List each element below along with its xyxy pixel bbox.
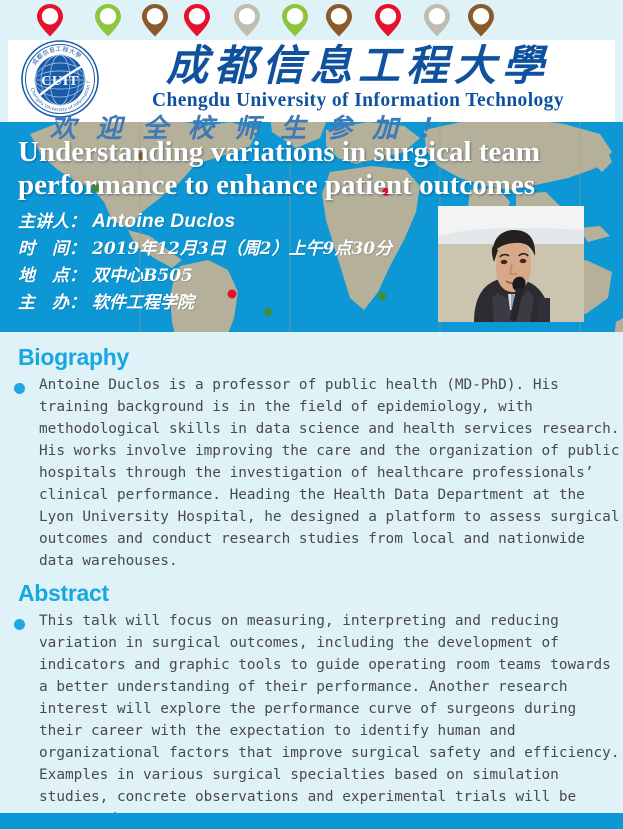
map-pin-3	[137, 2, 173, 38]
cuit-logo-icon: CUIT 成都信息工程大學 Chengdu University of Info…	[20, 39, 100, 119]
detail-location: 地 点：双中心B505	[18, 263, 392, 290]
map-pin-1	[32, 2, 68, 38]
detail-time: 时 间：2019年12月3日（周2）上午9点30分	[18, 236, 392, 263]
abstract-heading: Abstract	[18, 580, 109, 607]
svg-text:CUIT: CUIT	[41, 74, 78, 89]
poster-title: Understanding variations in surgical tea…	[18, 136, 604, 202]
map-pin-6	[277, 2, 313, 38]
welcome-line: 欢迎全校师生参加！	[50, 108, 590, 145]
detail-location-value: 双中心B505	[92, 266, 193, 286]
poster-content: Biography Antoine Duclos is a professor …	[0, 332, 623, 813]
speaker-photo	[438, 206, 584, 322]
detail-location-label: 地 点：	[18, 263, 92, 290]
biography-body: Antoine Duclos is a professor of public …	[14, 374, 623, 572]
detail-speaker-value: Antoine Duclos	[92, 211, 236, 232]
abstract-body: This talk will focus on measuring, inter…	[14, 610, 623, 829]
map-pin-7	[321, 2, 357, 38]
university-name-cn: 成都信息工程大學	[108, 38, 608, 94]
detail-organizer-label: 主 办：	[18, 290, 92, 317]
detail-organizer: 主 办：软件工程学院	[18, 290, 392, 317]
detail-speaker-label: 主讲人：	[18, 209, 92, 236]
detail-time-value: 2019年12月3日（周2）上午9点30分	[92, 239, 392, 259]
map-pin-10	[463, 2, 499, 38]
title-line-2: performance to enhance patient outcomes	[18, 169, 604, 202]
map-pin-5	[229, 2, 265, 38]
abstract-text: This talk will focus on measuring, inter…	[14, 610, 623, 829]
map-pin-9	[419, 2, 455, 38]
pin-strip	[0, 0, 623, 40]
biography-heading: Biography	[18, 344, 129, 371]
bottom-accent-bar	[0, 813, 623, 829]
detail-organizer-value: 软件工程学院	[92, 293, 194, 313]
map-pin-2	[90, 2, 126, 38]
map-pin-4	[179, 2, 215, 38]
detail-time-label: 时 间：	[18, 236, 92, 263]
bullet-icon	[14, 619, 25, 630]
map-pin-8	[370, 2, 406, 38]
bullet-icon	[14, 383, 25, 394]
biography-text: Antoine Duclos is a professor of public …	[14, 374, 623, 572]
detail-speaker: 主讲人：Antoine Duclos	[18, 208, 392, 236]
event-details: 主讲人：Antoine Duclos 时 间：2019年12月3日（周2）上午9…	[18, 208, 392, 317]
seminar-poster: CUIT 成都信息工程大學 Chengdu University of Info…	[0, 0, 623, 829]
